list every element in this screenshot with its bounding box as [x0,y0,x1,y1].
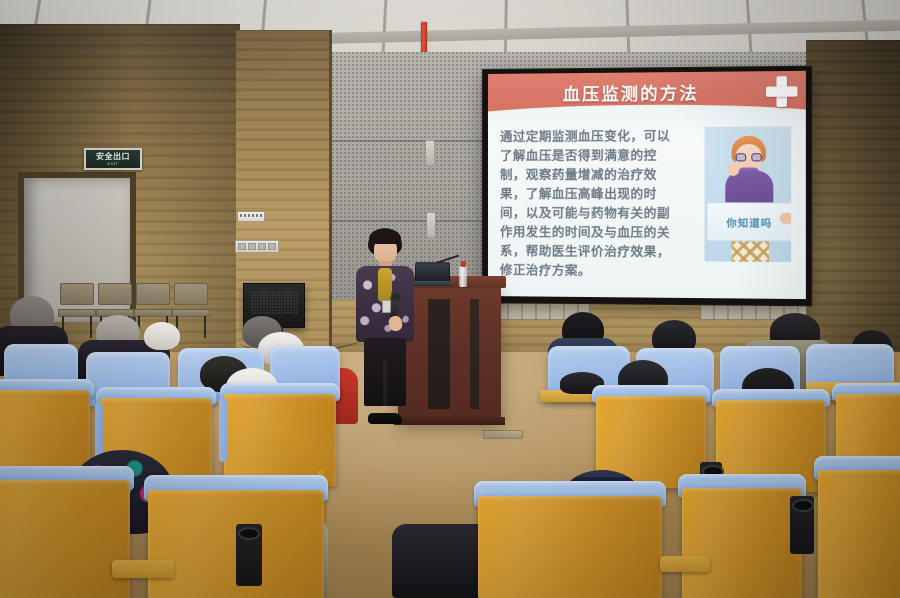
wall-plaque [237,211,265,222]
presenter-trousers [364,338,406,406]
presenter-badge [382,300,391,313]
auditorium-seat[interactable] [682,488,802,598]
auditorium-seat[interactable] [0,480,130,598]
auditorium-seat[interactable] [818,470,900,598]
gooseneck-microphone-icon [436,252,460,264]
exit-sign: 安全出口 EXIT [84,148,142,170]
glasses-icon [736,153,762,161]
presenter-shoes [368,413,402,424]
presenter-fringe [369,230,401,244]
stacked-chairs [60,283,220,345]
water-bottle-icon [459,266,467,287]
projection-screen: 血压监测的方法 通过定期监测血压变化，可以了解血压是否得到满意的控制，观察药量增… [483,67,811,306]
auditorium-photo: 安全出口 EXIT 血压监测的方法 通过定期监测血压变化，可以了解血压是否得到满… [0,0,900,598]
seat-armrest [112,560,174,578]
slide-body-text: 通过定期监测血压变化，可以了解血压是否得到满意的控制，观察药量增减的治疗效果，了… [500,126,679,281]
illustration-basket [732,239,770,262]
seat-armrest [660,556,710,572]
presenter [352,228,418,418]
slide-title: 血压监测的方法 [488,78,806,106]
illustration-sign-label: 你知道吗 [726,214,772,229]
slide-illustration: 你知道吗 [705,126,792,262]
illustration-hand-right [780,213,792,224]
exit-sign-label-cn: 安全出口 [96,153,130,161]
illustration-sign: 你知道吗 [707,202,792,241]
attendee-head [144,322,180,350]
cup-holder[interactable] [236,524,262,586]
laptop-icon [413,262,452,286]
wood-plank-wall-right [806,40,900,358]
presentation-slide: 血压监测的方法 通过定期监测血压变化，可以了解血压是否得到满意的控制，观察药量增… [488,71,806,299]
exit-sign-label-en: EXIT [108,162,119,166]
wall-outlet-strip[interactable] [235,240,279,253]
auditorium-seat[interactable] [0,390,90,476]
auditorium-seat[interactable] [478,496,662,598]
cup-holder[interactable] [790,496,814,554]
medical-cross-icon [766,76,797,107]
floor-vent-icon [483,430,523,439]
wall-speaker-icon [425,140,435,166]
wall-speaker-icon [426,212,436,238]
